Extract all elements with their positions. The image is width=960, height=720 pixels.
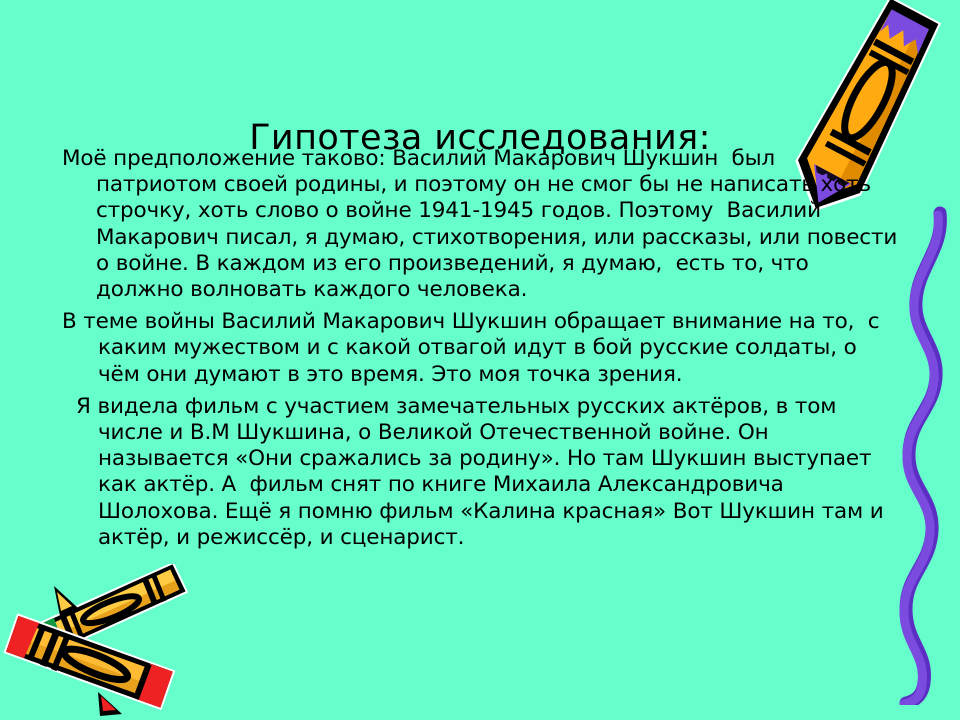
paragraph-war-theme: В теме войны Василий Макарович Шукшин об… bbox=[62, 309, 900, 388]
slide-content: Гипотеза исследования: Моё предположение… bbox=[0, 0, 960, 720]
paragraph-hypothesis-statement: Моё предположение таково: Василий Макаро… bbox=[62, 146, 900, 303]
body-text-block: Моё предположение таково: Василий Макаро… bbox=[62, 146, 900, 553]
presentation-slide: Гипотеза исследования: Моё предположение… bbox=[0, 0, 960, 720]
paragraph-films: Я видела фильм с участием замечательных … bbox=[62, 394, 900, 551]
